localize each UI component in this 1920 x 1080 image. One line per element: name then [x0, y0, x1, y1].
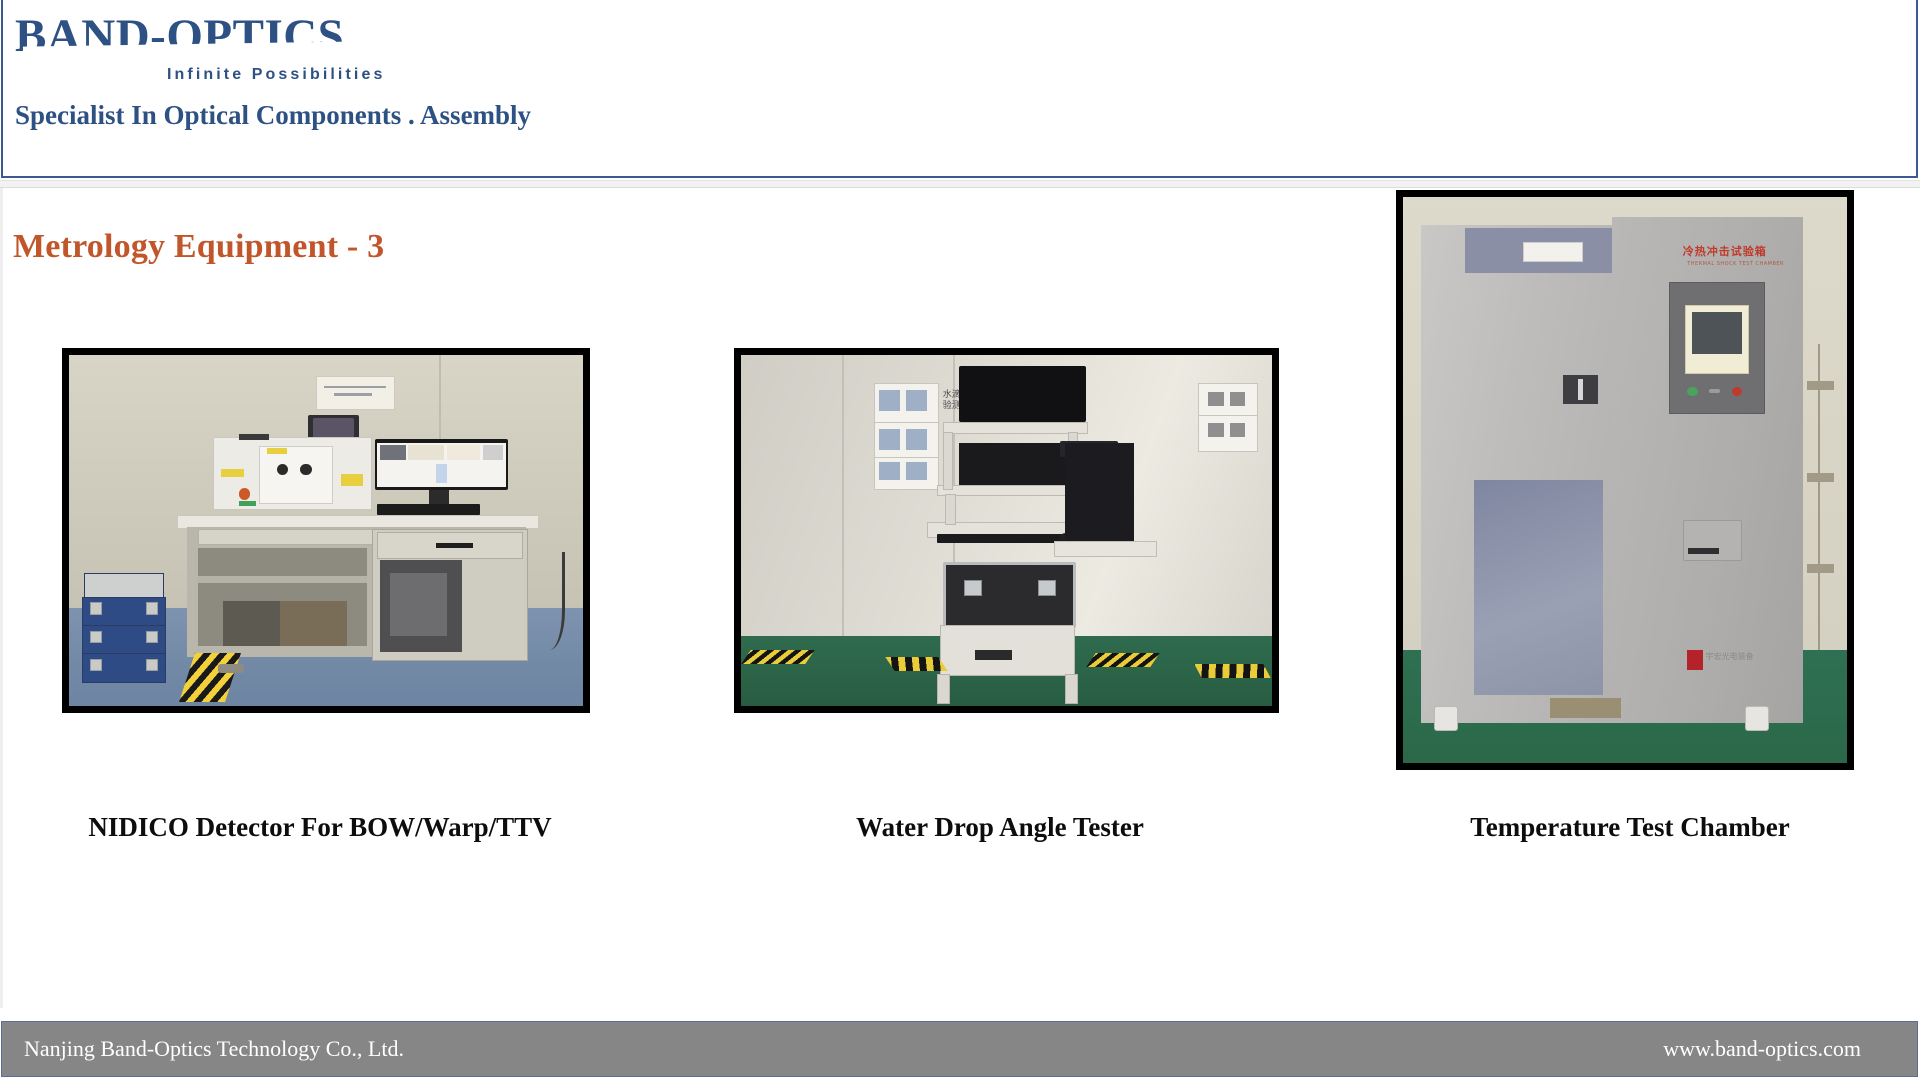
touchscreen-display — [1685, 305, 1749, 375]
under-bench-equipment-2 — [280, 601, 347, 647]
cart-post-left — [943, 432, 953, 490]
page-footer: Nanjing Band-Optics Technology Co., Ltd.… — [1, 1021, 1918, 1077]
warning-label-right — [341, 474, 363, 486]
monitor-screen — [377, 443, 506, 487]
caption-equipment-1: NIDICO Detector For BOW/Warp/TTV — [0, 812, 640, 843]
photo-1-artwork — [69, 355, 583, 706]
wall-poster-right-2 — [1198, 415, 1258, 452]
transport-case-top — [84, 573, 163, 600]
equipment-photo-3: 冷热冲击试验箱 THERMAL SHOCK TEST CHAMBER 宇宏光电装… — [1396, 190, 1854, 770]
poster-image-5 — [879, 462, 900, 480]
emergency-stop-button — [239, 488, 250, 499]
poster-image-2 — [906, 390, 927, 411]
case-latch-3 — [90, 631, 102, 644]
case-latch-4 — [146, 631, 158, 644]
service-hatch — [1683, 520, 1743, 562]
wall-seam-left — [842, 355, 844, 636]
caster-left — [1434, 706, 1458, 731]
photo-2-artwork: 水滴角实 验测试( — [741, 355, 1272, 706]
instrument-front-plate — [259, 446, 333, 504]
case-latch-1 — [90, 602, 102, 615]
cart-post-lower — [945, 494, 955, 526]
bench-upper-shelf — [198, 529, 375, 545]
floor-tape-2 — [885, 657, 948, 671]
keyboard — [377, 504, 480, 515]
poster-right-image-2 — [1230, 392, 1246, 406]
header-slogan: Specialist In Optical Components . Assem… — [15, 100, 531, 131]
desktop-pc — [390, 573, 447, 636]
equipment-photo-2: 水滴角实 验测试( — [734, 348, 1279, 713]
left-rail — [0, 188, 3, 1008]
warning-label-top — [267, 448, 288, 454]
mid-shelf — [937, 485, 1077, 496]
caster-right — [1745, 706, 1769, 731]
case-latch-left — [964, 580, 982, 596]
rack-post — [1818, 344, 1820, 650]
poster-right-image-4 — [1230, 423, 1246, 437]
header-separator — [0, 180, 1920, 188]
poster-image-1 — [879, 390, 900, 411]
second-monitor — [959, 443, 1076, 485]
case-latch-2 — [146, 602, 158, 615]
chamber-chinese-title: 冷热冲击试验箱 — [1683, 243, 1767, 259]
manufacturer-badge: 宇宏光电装备 — [1687, 650, 1758, 670]
footer-website: www.band-optics.com — [1663, 1036, 1861, 1062]
poster-right-image-3 — [1208, 423, 1224, 437]
wall-sign — [316, 376, 395, 410]
top-shelf — [943, 422, 1088, 435]
rack-shelf-1 — [1807, 381, 1834, 390]
cabinet-drawer — [377, 532, 523, 559]
page-header: BAND-OPTICS Infinite Possibilities Speci… — [1, 0, 1918, 178]
floor-tape-1 — [742, 650, 815, 664]
door-label — [1523, 242, 1583, 262]
wide-monitor — [375, 439, 509, 490]
base-plinth — [1550, 698, 1621, 718]
poster-right-image-1 — [1208, 392, 1224, 406]
cart-leg-left — [937, 674, 950, 704]
door-handle — [1563, 375, 1599, 403]
caption-equipment-3: Temperature Test Chamber — [1350, 812, 1910, 843]
rack-shelf-3 — [1807, 564, 1834, 573]
case-latch-6 — [146, 659, 158, 672]
cart-leg-right — [1065, 674, 1078, 704]
case-latch-5 — [90, 659, 102, 672]
instrument-top-bar — [239, 434, 270, 440]
side-table — [1054, 541, 1157, 557]
manufacturer-logo-icon — [1687, 650, 1703, 670]
drawer-handle — [975, 650, 1012, 661]
poster-image-4 — [906, 429, 927, 450]
logo-tagline: Infinite Possibilities — [167, 66, 385, 84]
poster-image-6 — [906, 462, 927, 480]
monitor-stand — [429, 490, 450, 504]
power-on-button — [1687, 387, 1698, 397]
footer-company-name: Nanjing Band-Optics Technology Co., Ltd. — [24, 1036, 404, 1062]
poster-image-3 — [879, 429, 900, 450]
power-cable — [526, 552, 565, 650]
bench-shelf — [198, 576, 368, 583]
caption-equipment-2: Water Drop Angle Tester — [720, 812, 1280, 843]
floor-tape-4 — [1194, 664, 1270, 678]
status-indicator — [239, 501, 256, 506]
warning-label-left — [221, 469, 244, 477]
chamber-door — [1465, 254, 1612, 667]
company-logo: BAND-OPTICS Infinite Possibilities — [15, 8, 455, 94]
top-monitor — [959, 366, 1086, 422]
floor-roller — [218, 664, 244, 673]
page-title: Metrology Equipment - 3 — [13, 228, 384, 266]
equipment-photo-1 — [62, 348, 590, 713]
instrument-knob-right — [300, 464, 311, 475]
manufacturer-name: 宇宏光电装备 — [1706, 651, 1754, 662]
logo-wordmark: BAND-OPTICS — [15, 8, 344, 64]
case-latch-right — [1038, 580, 1056, 596]
photo-3-artwork: 冷热冲击试验箱 THERMAL SHOCK TEST CHAMBER 宇宏光电装… — [1403, 197, 1847, 763]
wall-poster-right-1 — [1198, 383, 1258, 417]
rack-shelf-2 — [1807, 473, 1834, 482]
panel-switch — [1709, 389, 1720, 393]
chamber-chinese-subtitle: THERMAL SHOCK TEST CHAMBER — [1687, 261, 1784, 267]
background-rack — [1807, 344, 1834, 650]
keyboard — [937, 534, 1064, 543]
floor-tape-3 — [1087, 653, 1160, 667]
microscope-head — [1065, 443, 1134, 548]
